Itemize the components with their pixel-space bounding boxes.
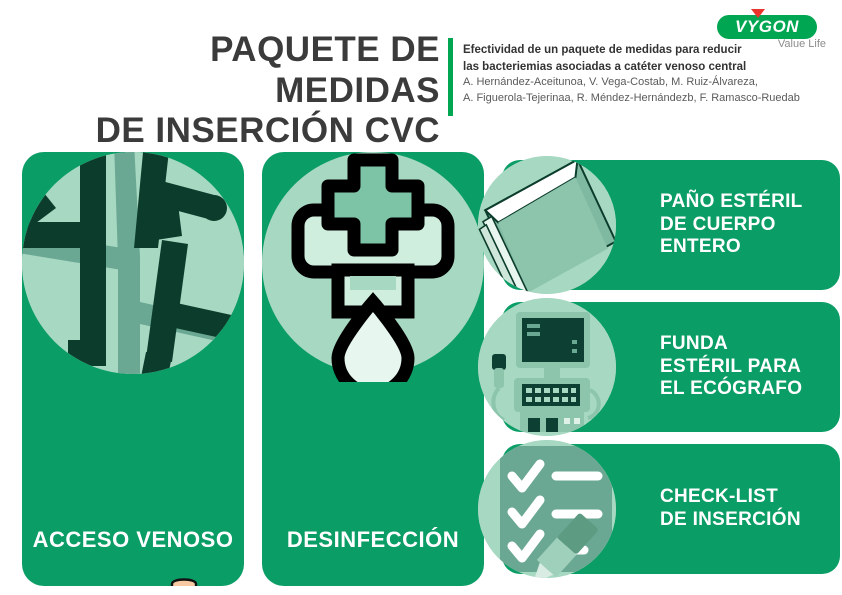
checklist-title-line-2: DE INSERCIÓN	[660, 509, 840, 532]
pano-title-line-1: PAÑO ESTÉRIL	[660, 191, 840, 214]
ultrasound-machine-icon	[478, 298, 616, 436]
study-reference: Efectividad de un paquete de medidas par…	[463, 42, 813, 107]
checklist-icon-circle	[478, 440, 616, 578]
funda-title-line-2: ESTÉRIL PARA	[660, 356, 840, 379]
pano-icon-circle	[478, 156, 616, 294]
page-title: PAQUETE DE MEDIDAS DE INSERCIÓN CVC	[60, 30, 440, 152]
funda-icon-circle	[478, 298, 616, 436]
logo-wordmark: VYGON	[717, 15, 817, 39]
card-check-list[interactable]: CHECK-LIST DE INSERCIÓN	[502, 444, 840, 574]
card-funda-ecografo[interactable]: FUNDA ESTÉRIL PARA EL ECÓGRAFO	[502, 302, 840, 432]
logo-triangle-icon	[751, 9, 765, 18]
checklist-title-line-1: CHECK-LIST	[660, 486, 840, 509]
author-line-1: A. Hernández-Aceitunoa, V. Vega-Costab, …	[463, 75, 813, 91]
card-pano-esteril[interactable]: PAÑO ESTÉRIL DE CUERPO ENTERO	[502, 160, 840, 290]
funda-card-title: FUNDA ESTÉRIL PARA EL ECÓGRAFO	[660, 302, 840, 432]
folded-sterile-drape-icon	[478, 156, 616, 294]
study-title-line-1: Efectividad de un paquete de medidas par…	[463, 42, 813, 59]
pano-title-line-2: DE CUERPO	[660, 214, 840, 237]
funda-title-line-3: EL ECÓGRAFO	[660, 378, 840, 401]
access-site-row[interactable]: 1 SUBCLAVIA	[22, 576, 244, 586]
page-title-line-1: PAQUETE DE MEDIDAS	[60, 30, 440, 111]
checklist-card-title: CHECK-LIST DE INSERCIÓN	[660, 444, 840, 574]
pano-title-line-3: ENTERO	[660, 236, 840, 259]
page-title-line-2: DE INSERCIÓN CVC	[60, 111, 440, 152]
checklist-clipboard-icon	[478, 440, 616, 578]
card-desinfeccion[interactable]: DESINFECCIÓN desinfección	[262, 152, 484, 586]
antiseptic-dispenser-icon	[262, 152, 484, 382]
header-divider	[448, 38, 453, 116]
logo-pill: VYGON	[717, 15, 817, 39]
shoulder-illustration	[148, 576, 220, 586]
header: VYGON Value Life PAQUETE DE MEDIDAS DE I…	[0, 0, 842, 140]
desinfeccion-detail[interactable]: desinfección con: clorhexidina alcohólic…	[262, 582, 484, 586]
acceso-card-title: ACCESO VENOSO	[22, 527, 244, 553]
study-title-line-2: las bacteriemias asociadas a catéter ven…	[463, 59, 813, 76]
author-line-2: A. Figuerola-Tejerinaa, R. Méndez-Hernán…	[463, 91, 813, 107]
card-acceso-venoso[interactable]: ACCESO VENOSO 1 SUBCLAVIA YUGULAR 2	[22, 152, 244, 586]
funda-title-line-1: FUNDA	[660, 333, 840, 356]
desinfeccion-card-title: DESINFECCIÓN	[262, 527, 484, 553]
pano-card-title: PAÑO ESTÉRIL DE CUERPO ENTERO	[660, 160, 840, 290]
vein-tree-icon	[22, 152, 244, 374]
